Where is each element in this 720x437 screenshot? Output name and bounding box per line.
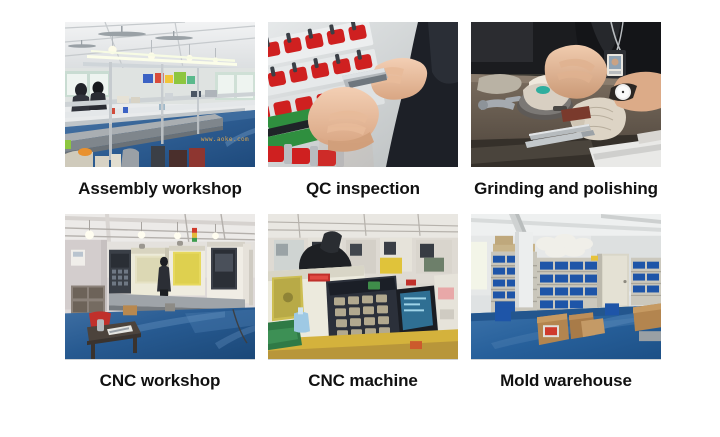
photo-cnc-machine[interactable]	[268, 214, 458, 360]
gallery-cell-grinding-and-polishing[interactable]: Grinding and polishing	[471, 22, 661, 198]
gallery-grid: www.aoke.com Assembly workshop	[65, 22, 662, 390]
photo-grinding-and-polishing[interactable]	[471, 22, 661, 167]
gallery-cell-cnc-workshop[interactable]: CNC workshop	[65, 214, 255, 390]
gallery-cell-qc-inspection[interactable]: QC inspection	[268, 22, 458, 198]
gallery-cell-cnc-machine[interactable]: CNC machine	[268, 214, 458, 390]
gallery-cell-assembly-workshop[interactable]: www.aoke.com Assembly workshop	[65, 22, 255, 198]
caption-cnc-machine: CNC machine	[268, 360, 458, 390]
caption-grinding-and-polishing: Grinding and polishing	[471, 167, 661, 198]
photo-qc-inspection[interactable]	[268, 22, 458, 167]
caption-mold-warehouse: Mold warehouse	[471, 360, 661, 390]
caption-cnc-workshop: CNC workshop	[65, 360, 255, 390]
photo-gallery: www.aoke.com Assembly workshop	[0, 0, 720, 437]
gallery-cell-mold-warehouse[interactable]: Mold warehouse	[471, 214, 661, 390]
photo-watermark: www.aoke.com	[201, 136, 249, 143]
photo-cnc-workshop[interactable]	[65, 214, 255, 360]
photo-mold-warehouse[interactable]	[471, 214, 661, 360]
caption-assembly-workshop: Assembly workshop	[65, 167, 255, 198]
caption-qc-inspection: QC inspection	[268, 167, 458, 198]
photo-assembly-workshop[interactable]: www.aoke.com	[65, 22, 255, 167]
